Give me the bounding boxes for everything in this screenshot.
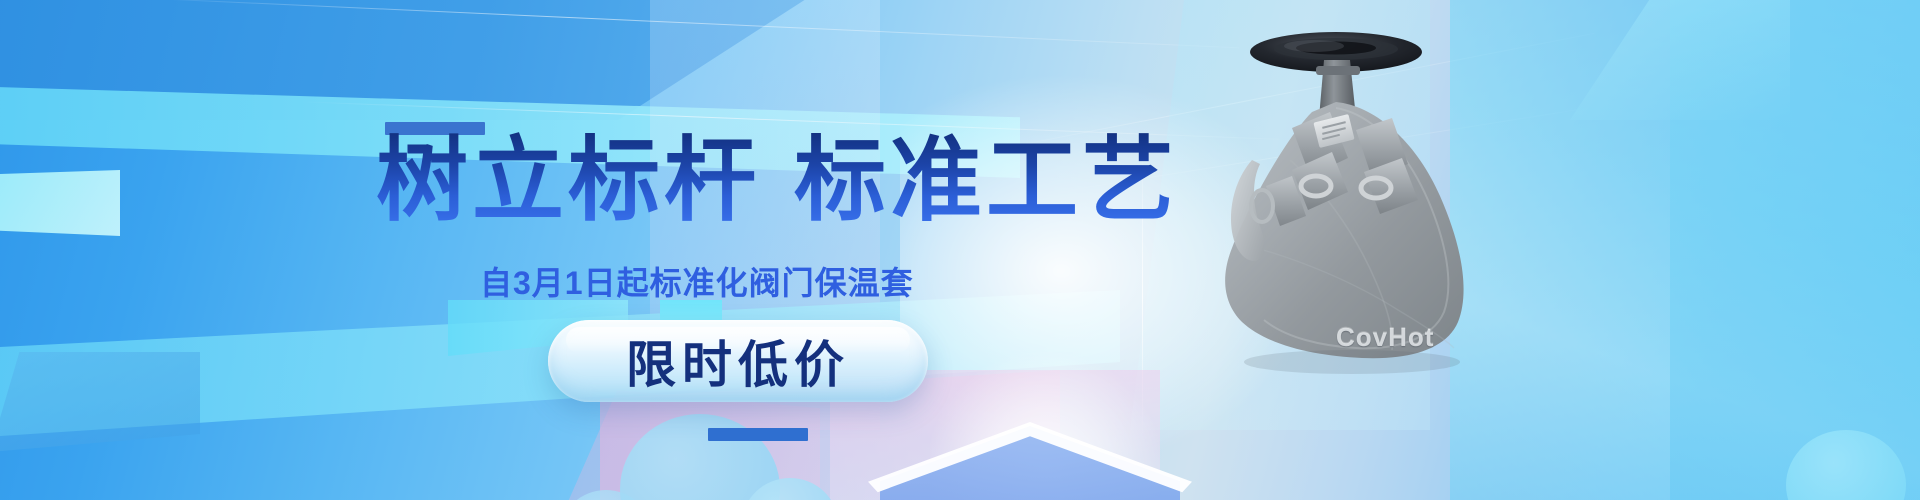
- valve-insulation-jacket-photo: CovHot: [1140, 10, 1560, 430]
- bg-right-edge-block: [1670, 0, 1920, 500]
- headline-part-1: 树立标杆: [376, 130, 760, 232]
- page-title: 树立标杆标准工艺: [376, 130, 1178, 233]
- underline-rule-icon: [708, 428, 808, 441]
- bg-circle-bottom-right: [1786, 430, 1906, 500]
- headline-part-2: 标准工艺: [794, 130, 1178, 232]
- subtitle: 自3月1日起标准化阀门保温套: [480, 258, 914, 304]
- promo-banner: 树立标杆标准工艺 自3月1日起标准化阀门保温套 限时低价: [0, 0, 1920, 500]
- cta-pill-label: 限时低价: [626, 325, 850, 397]
- bg-chip-top-right: [1570, 0, 1790, 120]
- copy-block: 树立标杆标准工艺 自3月1日起标准化阀门保温套 限时低价: [0, 0, 1100, 500]
- cta-pill-button[interactable]: 限时低价: [548, 320, 928, 402]
